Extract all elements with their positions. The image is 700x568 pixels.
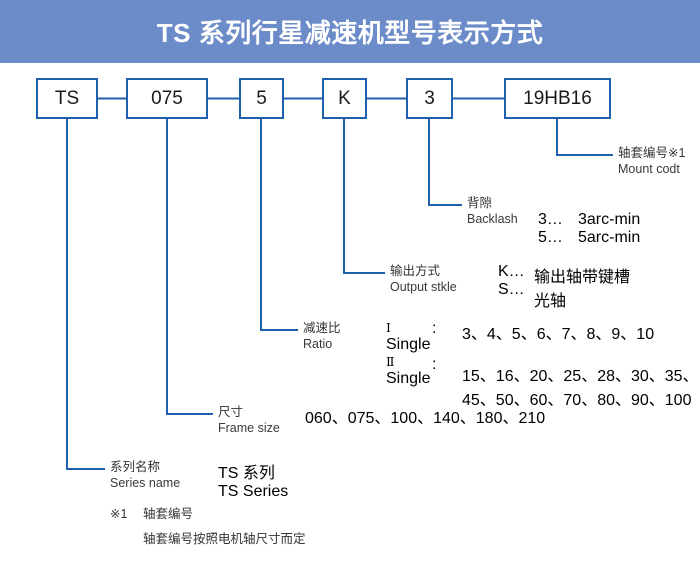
leader-output [344,118,385,273]
box-label-mount-code: 19HB16 [505,79,610,118]
ratio-values: 3、4、5、6、7、8、9、10 15、16、20、25、28、30、35、 4… [462,320,699,410]
output-style-label-en: Output stkle [390,279,457,295]
box-label-ratio: 5 [240,79,283,118]
mount-code-label-cn: 轴套编号※1 [618,145,685,161]
box-label-frame-size: 075 [127,79,207,118]
backlash-code-0: 3… [538,211,563,229]
annotation-ratio: 减速比 Ratio [303,320,341,352]
leader-mount-code [557,118,613,155]
ratio-stage-1: Single [386,370,430,388]
ratio-label-en: Ratio [303,336,341,352]
output-style-desc-1: 光轴 [534,287,630,311]
ratio-group-numerals: Ⅰ Single Ⅱ Single [386,320,430,388]
backlash-option-descs: 3arc-min 5arc-min [578,211,640,247]
frame-size-value-list: 060、075、100、140、180、210 [305,404,545,428]
annotation-series-name: 系列名称 Series name [110,459,180,491]
output-style-option-descs: 输出轴带键槽 光轴 [534,263,630,311]
output-style-desc-0: 输出轴带键槽 [534,263,630,287]
box-label-backlash: 3 [407,79,452,118]
series-name-label-cn: 系列名称 [110,459,180,475]
ratio-separators: : : [432,320,436,374]
output-style-code-1: S… [498,281,525,299]
backlash-desc-1: 5arc-min [578,229,640,247]
series-name-label-en: Series name [110,475,180,491]
footnote-marker: ※1 [110,503,127,525]
backlash-code-1: 5… [538,229,563,247]
diagram-page: TS 系列行星减速机型号表示方式 TS 075 5 [0,0,700,568]
ratio-label-cn: 减速比 [303,320,341,336]
frame-size-values: 060、075、100、140、180、210 [305,404,545,428]
output-style-code-0: K… [498,263,525,281]
ratio-stage-0: Single [386,336,430,354]
ratio-values-spacer [462,344,699,362]
output-style-label-cn: 输出方式 [390,263,457,279]
ratio-numeral-0: Ⅰ [386,320,430,336]
ratio-values-1-line-0: 15、16、20、25、28、30、35、 [462,362,699,386]
backlash-label-cn: 背隙 [467,195,518,211]
series-name-value-en: TS Series [218,483,288,501]
frame-size-label-cn: 尺寸 [218,404,280,420]
ratio-separator-1: : [432,356,436,374]
series-name-values: TS 系列 TS Series [218,459,288,501]
annotation-output-style: 输出方式 Output stkle [390,263,457,295]
annotation-mount-code: 轴套编号※1 Mount codt [618,145,685,177]
footnote-text: 轴套编号按照电机轴尺寸而定 [143,528,306,550]
ratio-values-0-line-0: 3、4、5、6、7、8、9、10 [462,320,699,344]
ratio-separator-spacer-0 [432,338,436,356]
backlash-option-codes: 3… 5… [538,211,563,247]
series-name-value-cn: TS 系列 [218,459,288,483]
mount-code-label-en: Mount codt [618,161,685,177]
leader-backlash [429,118,462,205]
ratio-separator-0: : [432,320,436,338]
output-style-option-codes: K… S… [498,263,525,299]
leader-series-name [67,118,105,469]
leader-ratio [261,118,298,330]
annotation-frame-size: 尺寸 Frame size [218,404,280,436]
annotation-backlash: 背隙 Backlash [467,195,518,227]
box-label-output: K [323,79,366,118]
leader-frame-size [167,118,213,414]
ratio-numeral-1: Ⅱ [386,354,430,370]
frame-size-label-en: Frame size [218,420,280,436]
footnote-title: 轴套编号 [143,503,193,525]
backlash-desc-0: 3arc-min [578,211,640,229]
backlash-label-en: Backlash [467,211,518,227]
box-label-series: TS [37,79,97,118]
